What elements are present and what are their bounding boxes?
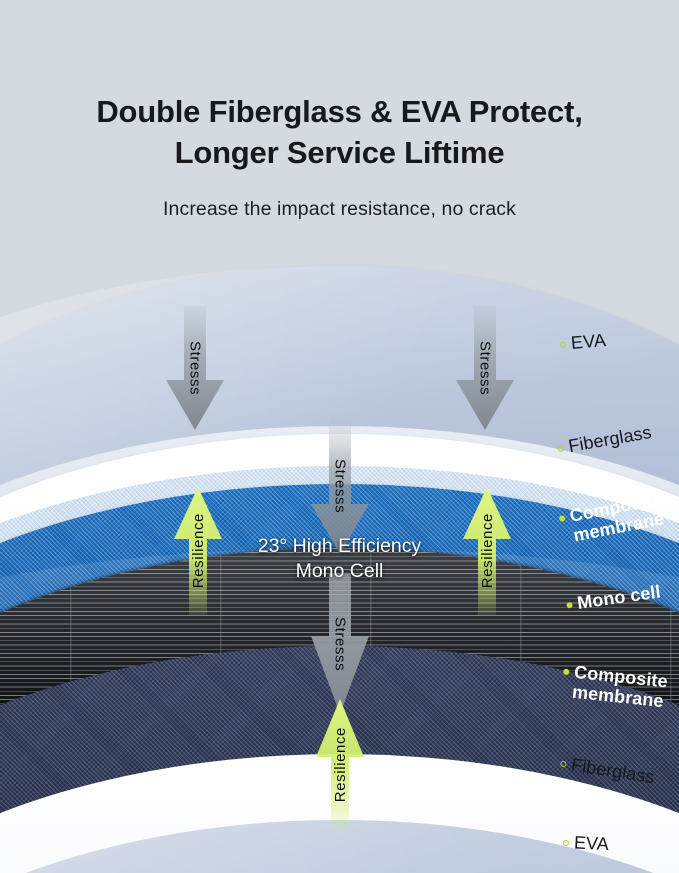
page-title-line-2: Longer Service Liftime <box>34 133 645 174</box>
resilience-arrow-bottom: Resilience <box>316 699 364 831</box>
stress-arrow-center-lower: Stresss <box>311 574 369 714</box>
resilience-arrow-right: Resilience <box>463 487 511 615</box>
page-title: Double Fiberglass & EVA Protect, Longer … <box>0 92 679 174</box>
bullet-icon <box>560 761 567 768</box>
resilience-arrow-left: Resilience <box>174 487 222 615</box>
bullet-icon <box>557 445 564 452</box>
callout-eva-top: EVA <box>559 330 607 354</box>
bullet-icon <box>559 515 566 522</box>
bullet-icon <box>563 840 569 846</box>
bullet-icon <box>563 669 570 676</box>
stress-arrow-left: Stresss <box>166 306 224 430</box>
stress-arrow-center-upper: Stresss <box>311 418 369 554</box>
page-subtitle: Increase the impact resistance, no crack <box>0 198 679 221</box>
callout-eva-bottom: EVA <box>563 832 610 855</box>
callout-eva-bottom-label: EVA <box>573 832 609 854</box>
page-title-line-1: Double Fiberglass & EVA Protect, <box>34 92 645 133</box>
infographic-page: Double Fiberglass & EVA Protect, Longer … <box>0 0 679 873</box>
bullet-icon <box>560 341 567 348</box>
callout-eva-top-label: EVA <box>570 330 607 353</box>
stress-arrow-right: Stresss <box>456 306 514 430</box>
header-block: Double Fiberglass & EVA Protect, Longer … <box>0 0 679 250</box>
bullet-icon <box>566 602 573 609</box>
